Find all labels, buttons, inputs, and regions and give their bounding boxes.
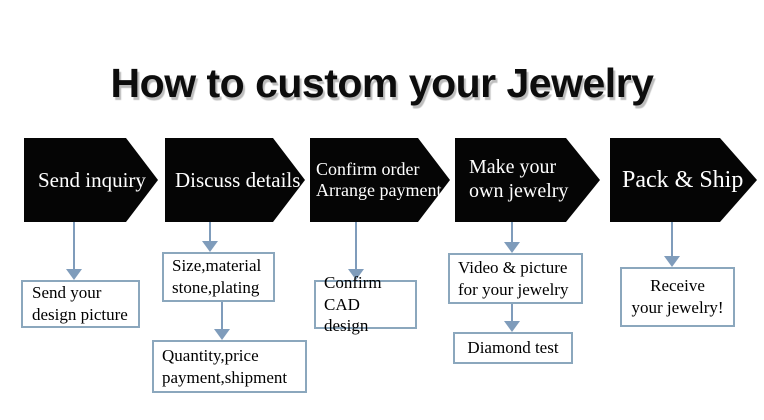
page-title: How to custom your Jewelry: [0, 60, 764, 107]
arrowhead-down-icon: [214, 329, 230, 340]
detail-box-label: Size,material stone,plating: [172, 255, 265, 299]
connector-line: [355, 222, 357, 269]
detail-box-send-design-picture[interactable]: Send your design picture: [21, 280, 140, 328]
detail-box-label: Diamond test: [461, 337, 565, 359]
process-step-label: Discuss details: [175, 168, 300, 193]
conn-size-to-quantity-arrow-icon: [212, 302, 232, 340]
process-step-make-jewelry[interactable]: Make your own jewelry: [455, 138, 600, 222]
conn-step1-to-send-design-arrow-icon: [64, 222, 84, 280]
detail-box-label: Confirm CAD design: [324, 272, 407, 337]
conn-step2-to-size-material-arrow-icon: [200, 222, 220, 252]
process-step-send-inquiry[interactable]: Send inquiry: [24, 138, 158, 222]
arrowhead-down-icon: [66, 269, 82, 280]
detail-box-size-material[interactable]: Size,material stone,plating: [162, 252, 275, 302]
connector-line: [73, 222, 75, 269]
conn-video-to-diamond-test-arrow-icon: [502, 304, 522, 332]
detail-box-quantity-price[interactable]: Quantity,price payment,shipment: [152, 340, 307, 393]
detail-box-confirm-cad-design[interactable]: Confirm CAD design: [314, 280, 417, 329]
arrowhead-down-icon: [202, 241, 218, 252]
process-step-label: Confirm order Arrange payment: [316, 159, 441, 201]
detail-box-video-picture[interactable]: Video & picture for your jewelry: [448, 253, 583, 304]
arrowhead-down-icon: [504, 321, 520, 332]
conn-step4-to-video-picture-arrow-icon: [502, 222, 522, 253]
arrowhead-down-icon: [504, 242, 520, 253]
connector-line: [671, 222, 673, 256]
conn-step5-to-receive-jewelry-arrow-icon: [662, 222, 682, 267]
detail-box-label: Video & picture for your jewelry: [458, 257, 573, 301]
connector-line: [209, 222, 211, 241]
detail-box-diamond-test[interactable]: Diamond test: [453, 332, 573, 364]
process-step-pack-ship[interactable]: Pack & Ship: [610, 138, 757, 222]
process-step-label: Send inquiry: [38, 168, 146, 193]
process-step-label: Pack & Ship: [622, 166, 743, 194]
connector-line: [221, 302, 223, 329]
detail-box-label: Receive your jewelry!: [628, 275, 727, 319]
detail-box-receive-jewelry[interactable]: Receive your jewelry!: [620, 267, 735, 327]
connector-line: [511, 222, 513, 242]
detail-box-label: Quantity,price payment,shipment: [162, 345, 297, 389]
process-step-discuss-details[interactable]: Discuss details: [165, 138, 305, 222]
detail-box-label: Send your design picture: [32, 282, 129, 326]
flowchart-canvas: How to custom your Jewelry Send inquiryD…: [0, 0, 764, 420]
process-step-label: Make your own jewelry: [469, 156, 568, 203]
connector-line: [511, 304, 513, 321]
arrowhead-down-icon: [664, 256, 680, 267]
process-step-confirm-order[interactable]: Confirm order Arrange payment: [310, 138, 450, 222]
